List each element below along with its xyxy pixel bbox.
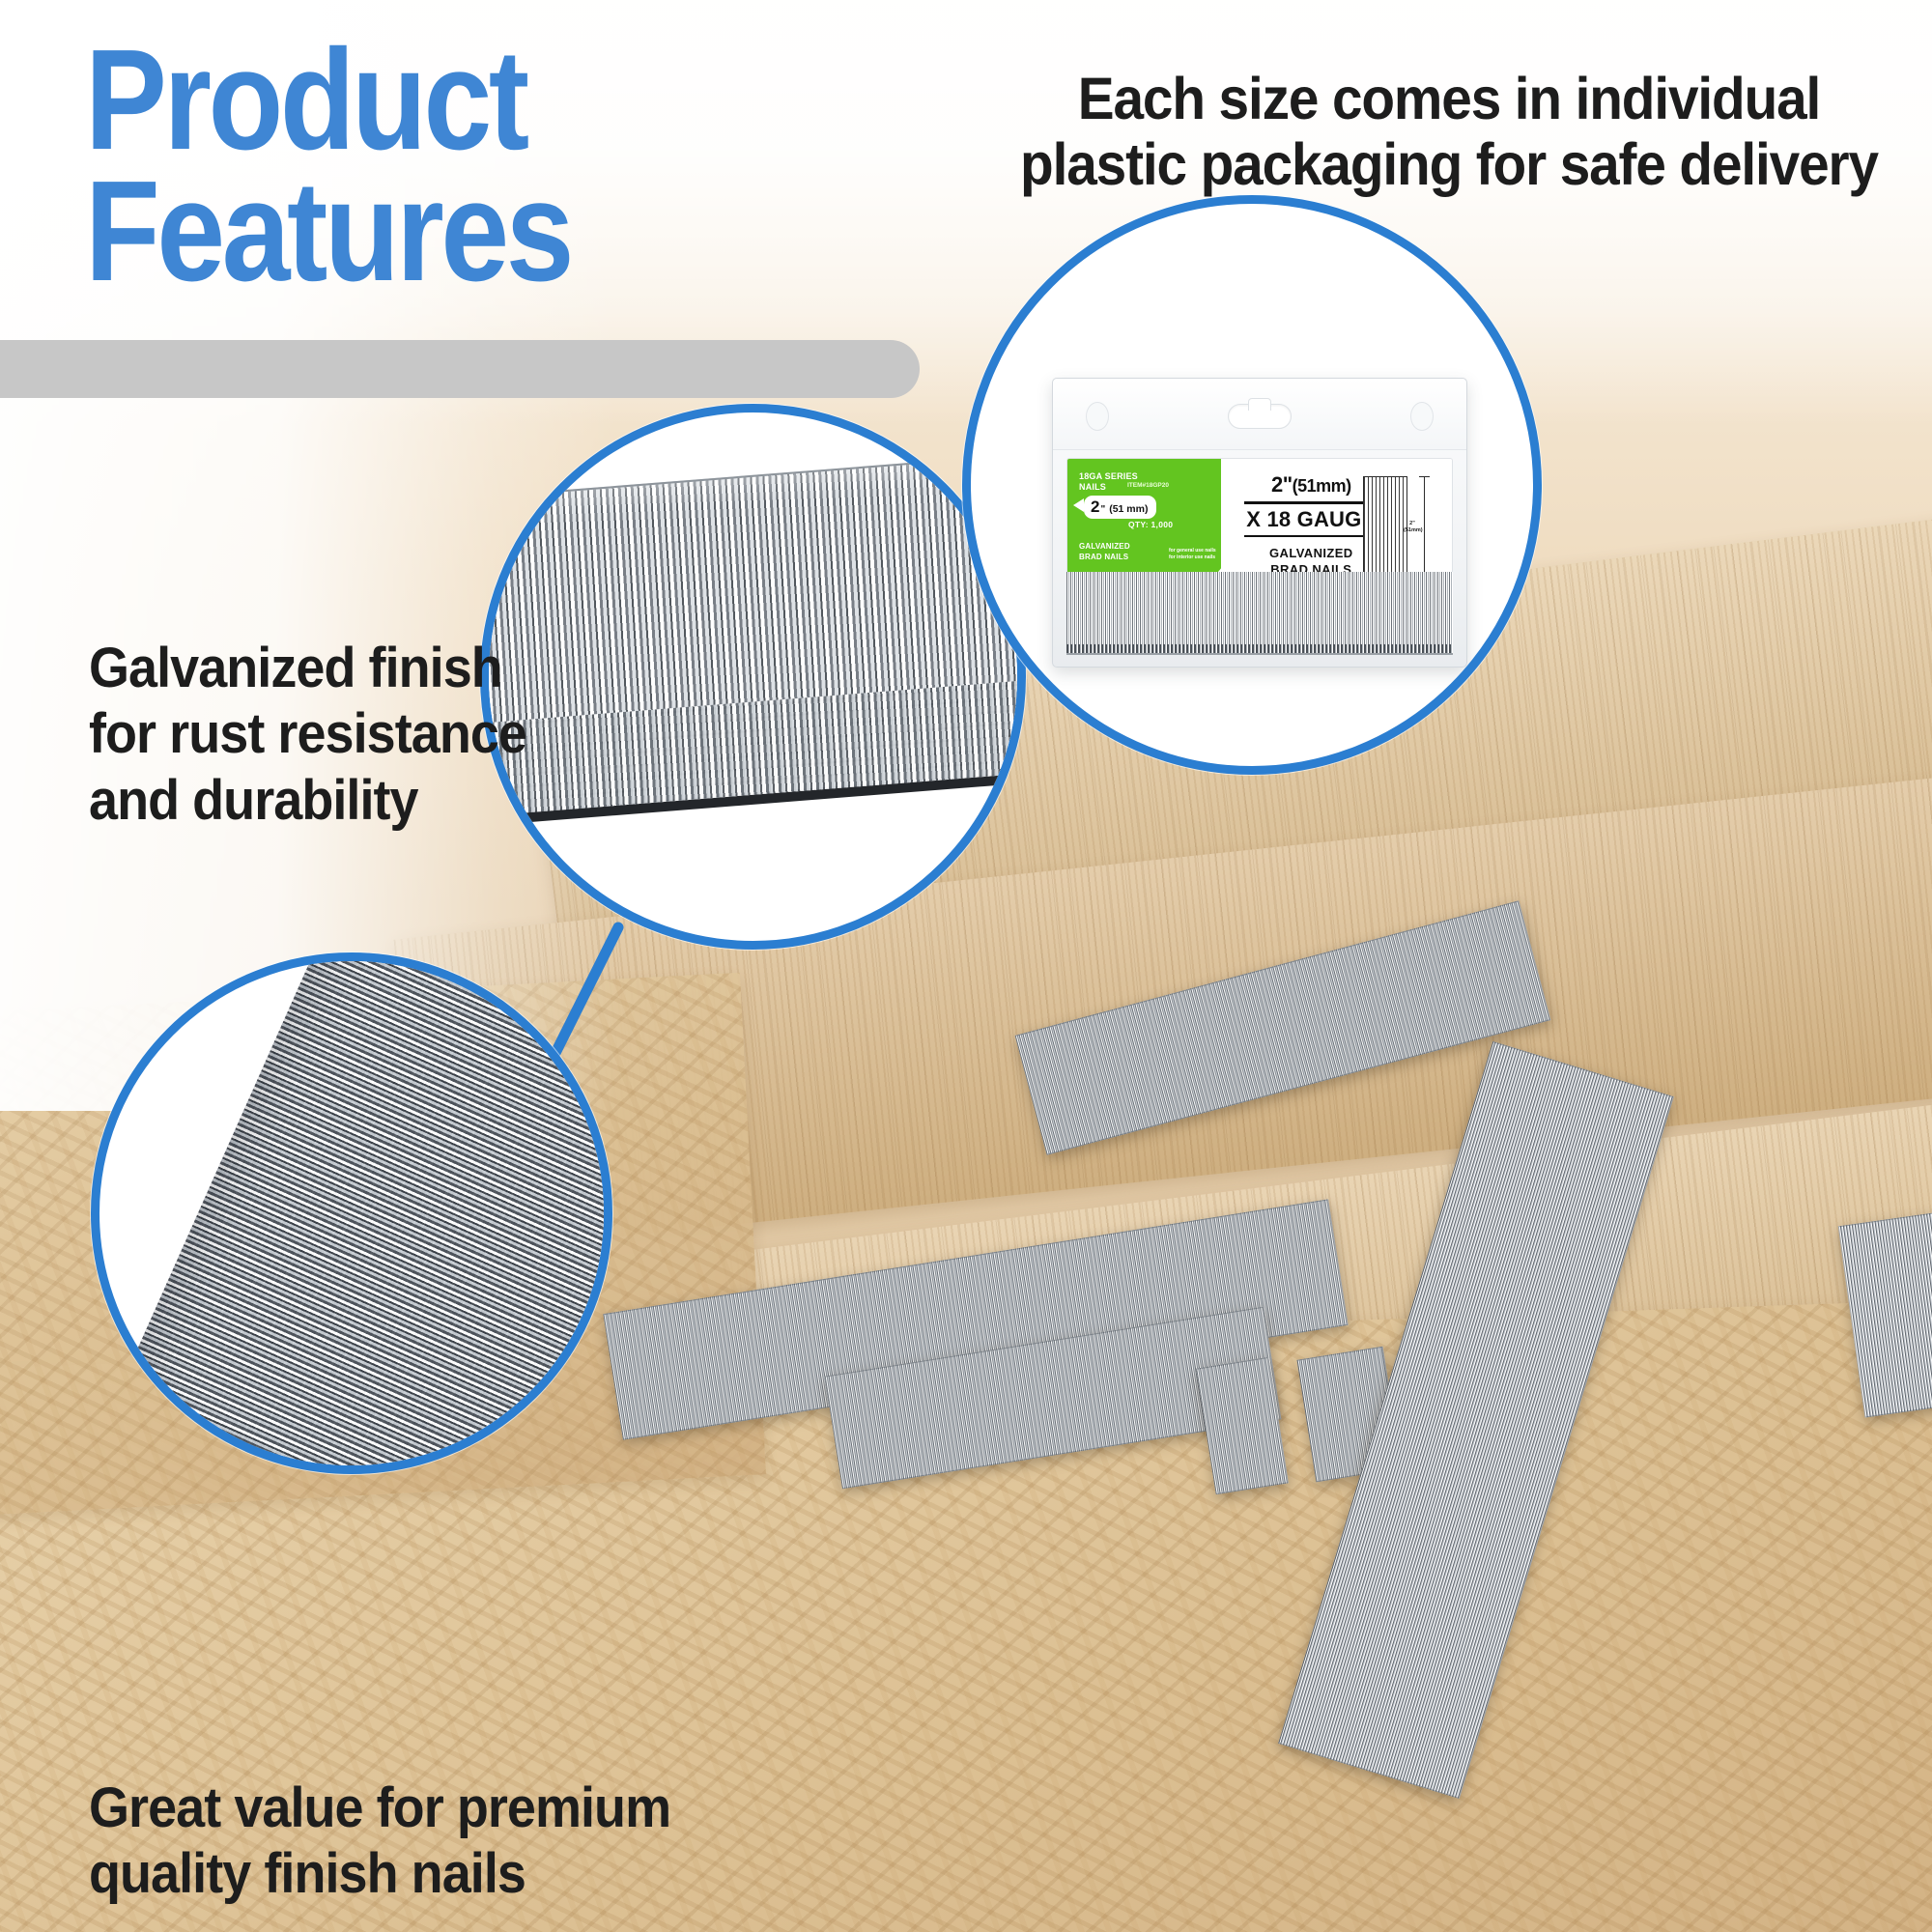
green-product-line1: GALVANIZED — [1079, 542, 1130, 551]
diagram-dim-line2: (51mm) — [1404, 527, 1423, 533]
package-spec-block: 2"(51mm) X 18 GAUGE GALVANIZED BRAD NAIL… — [1244, 472, 1378, 579]
package-size-metric: (51mm) — [1293, 476, 1351, 496]
diagram-nails-icon — [1363, 476, 1407, 584]
package-visible-nails — [1066, 572, 1453, 655]
product-package: 18GA SERIES NAILS ITEM#18GP20 2 " (51 mm… — [1052, 378, 1467, 668]
feature-2-line2: quality finish nails — [89, 1842, 526, 1905]
nail-strip-macro-value — [99, 961, 604, 1465]
package-weld-dot-right-icon — [1410, 402, 1434, 431]
headline-packaging: Each size comes in individual plastic pa… — [1000, 66, 1898, 198]
feature-1-line3: and durability — [89, 769, 418, 832]
package-hang-hole-icon — [1228, 404, 1292, 429]
green-series-line2: NAILS — [1079, 482, 1106, 492]
green-qty-text: QTY: 1,000 — [1128, 520, 1173, 529]
spec-rule-bottom — [1244, 535, 1378, 537]
nail-dimension-diagram: 2" (51mm) — [1363, 476, 1436, 584]
feature-caption-great-value: Great value for premium quality finish n… — [89, 1776, 718, 1908]
size-arrow-icon — [1073, 498, 1084, 512]
callout-value-photo — [99, 961, 604, 1465]
diagram-dim-line1: 2" — [1409, 521, 1415, 526]
callout-package-photo: 18GA SERIES NAILS ITEM#18GP20 2 " (51 mm… — [971, 204, 1533, 766]
diagram-dimension-text: 2" (51mm) — [1404, 521, 1421, 534]
headline-line1: Each size comes in individual — [1078, 66, 1820, 131]
callout-circle-great-value — [91, 952, 612, 1474]
infographic-stage: 18GA SERIES NAILS ITEM#18GP20 2 " (51 mm… — [0, 0, 1932, 1932]
feature-2-line1: Great value for premium — [89, 1776, 670, 1839]
green-size-number: 2 — [1091, 497, 1099, 517]
green-series-line1: 18GA SERIES — [1079, 471, 1138, 481]
green-product-line2: BRAD NAILS — [1079, 553, 1128, 561]
green-fine-line2: for interior use nails — [1169, 554, 1215, 560]
callout-circle-package: 18GA SERIES NAILS ITEM#18GP20 2 " (51 mm… — [962, 195, 1542, 775]
green-item-number: ITEM#18GP20 — [1127, 482, 1169, 489]
green-fine-line1: for general use nails — [1169, 548, 1216, 554]
feature-caption-galvanized-finish: Galvanized finish for rust resistance an… — [89, 636, 592, 834]
green-product-text: GALVANIZED BRAD NAILS — [1079, 542, 1130, 563]
green-size-unit: " — [1100, 504, 1105, 515]
page-title-line2: Features — [85, 166, 833, 298]
page-title: Product Features — [85, 35, 833, 298]
feature-1-line1: Galvanized finish — [89, 637, 502, 699]
diagram-dimension-line-icon — [1424, 476, 1425, 584]
spec-rule-top — [1244, 501, 1378, 504]
green-fine-print: for general use nails for interior use n… — [1169, 548, 1217, 561]
package-size-main: 2" — [1271, 472, 1293, 497]
package-weld-dot-left-icon — [1086, 402, 1109, 431]
feature-1-line2: for rust resistance — [89, 702, 526, 765]
package-product-line1: GALVANIZED — [1269, 546, 1353, 560]
package-size-line: 2"(51mm) — [1244, 472, 1378, 497]
headline-line2: plastic packaging for safe delivery — [1020, 131, 1878, 197]
package-hang-header — [1053, 379, 1466, 450]
title-underline-bar — [0, 340, 920, 398]
green-size-badge: 2 " (51 mm) — [1084, 496, 1156, 519]
green-size-metric: (51 mm) — [1109, 503, 1148, 515]
package-gauge-text: X 18 GAUGE — [1244, 507, 1378, 532]
